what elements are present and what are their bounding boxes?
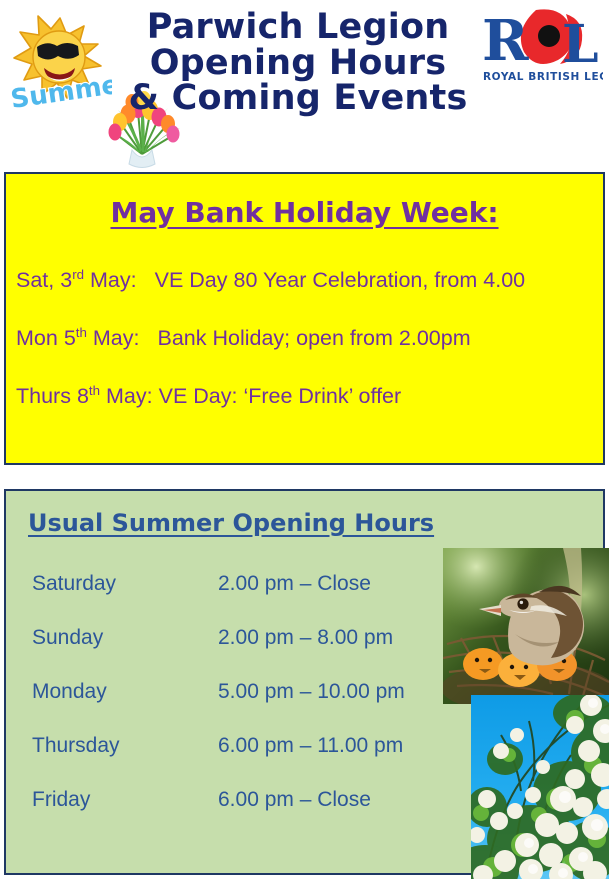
event-day: Thurs [16,384,77,408]
event-month: May: [100,384,153,408]
poster-title: Parwich Legion Opening Hours & Coming Ev… [108,10,488,117]
opening-hours-heading: Usual Summer Opening Hours [28,509,434,537]
event-month: May: [84,268,137,292]
event-ordinal-number: 3 [60,268,72,292]
hours-day: Saturday [6,557,206,611]
events-panel-heading: May Bank Holiday Week: [6,196,603,229]
event-ordinal-suffix: th [89,383,100,398]
bird-in-nest-photo [443,548,609,704]
event-ordinal-suffix: th [76,325,87,340]
event-day: Mon [16,326,64,350]
events-panel: May Bank Holiday Week: Sat, 3rd May: VE … [4,172,605,465]
event-description: VE Day 80 Year Celebration, from 4.00 [155,268,526,292]
hours-day: Sunday [6,611,206,665]
event-description: Bank Holiday; open from 2.00pm [157,326,470,350]
event-row: Mon 5th May: Bank Holiday; open from 2.0… [16,325,603,351]
hours-day: Monday [6,665,206,719]
svg-text:L: L [562,14,599,75]
event-description: VE Day: ‘Free Drink’ offer [159,384,402,408]
event-ordinal-number: 8 [77,384,89,408]
event-month: May: [87,326,140,350]
logo-caption-text: ROYAL BRITISH LEGION [483,71,603,83]
event-day: Sat, [16,268,60,292]
blossom-tree-photo [471,695,609,879]
hours-day: Friday [6,773,206,827]
poster-header: Summer Parwich [0,0,609,168]
event-ordinal-number: 5 [64,326,76,350]
hours-day: Thursday [6,719,206,773]
event-row: Sat, 3rd May: VE Day 80 Year Celebration… [16,267,603,293]
title-line-2: Opening Hours [108,46,488,82]
title-line-3: & Coming Events [108,81,488,117]
event-row: Thurs 8th May: VE Day: ‘Free Drink’ offe… [16,383,603,409]
svg-text:R: R [482,8,529,74]
title-line-1: Parwich Legion [108,10,488,46]
royal-british-legion-logo: R L ROYAL BRITISH LEGION [478,4,603,92]
event-ordinal-suffix: rd [72,267,84,282]
